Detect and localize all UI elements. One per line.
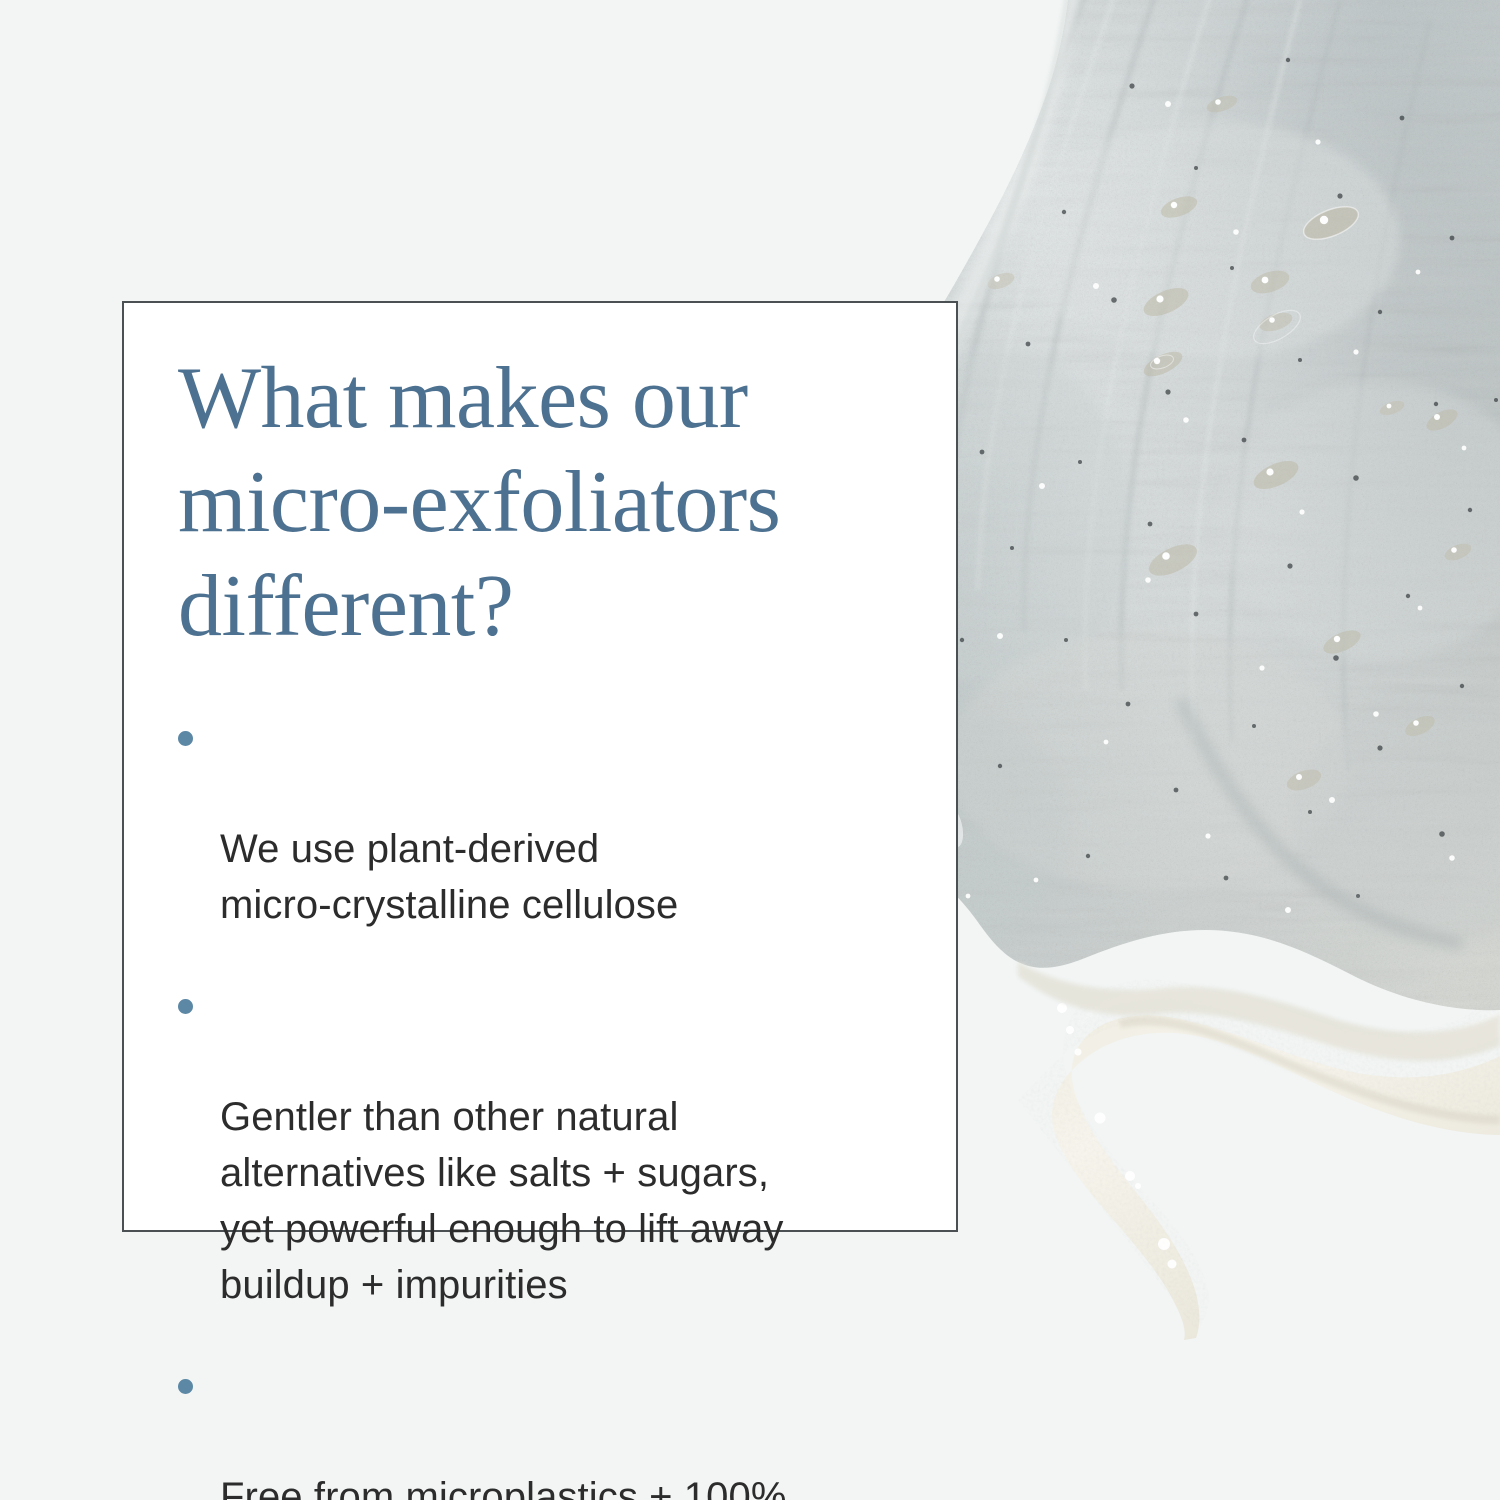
benefits-card: What makes our micro-exfoliators differe…	[122, 301, 958, 1232]
bullet-icon	[178, 999, 193, 1014]
bullet-icon	[178, 731, 193, 746]
benefit-text: Gentler than other natural alternatives …	[220, 1095, 784, 1307]
cream-drip-shape	[980, 940, 1500, 1360]
list-item: Free from microplastics + 100% biodegrad…	[178, 1357, 926, 1500]
benefit-text: Free from microplastics + 100% biodegrad…	[220, 1475, 787, 1500]
benefit-list: We use plant-derived micro-crystalline c…	[178, 709, 926, 1500]
card-content: What makes our micro-exfoliators differe…	[178, 347, 926, 1500]
page-title: What makes our micro-exfoliators differe…	[178, 347, 926, 659]
water-droplets	[909, 92, 1474, 849]
benefit-text: We use plant-derived micro-crystalline c…	[220, 827, 678, 927]
list-item: We use plant-derived micro-crystalline c…	[178, 709, 926, 933]
infographic-canvas: What makes our micro-exfoliators differe…	[0, 0, 1500, 1500]
list-item: Gentler than other natural alternatives …	[178, 977, 926, 1313]
bullet-icon	[178, 1379, 193, 1394]
